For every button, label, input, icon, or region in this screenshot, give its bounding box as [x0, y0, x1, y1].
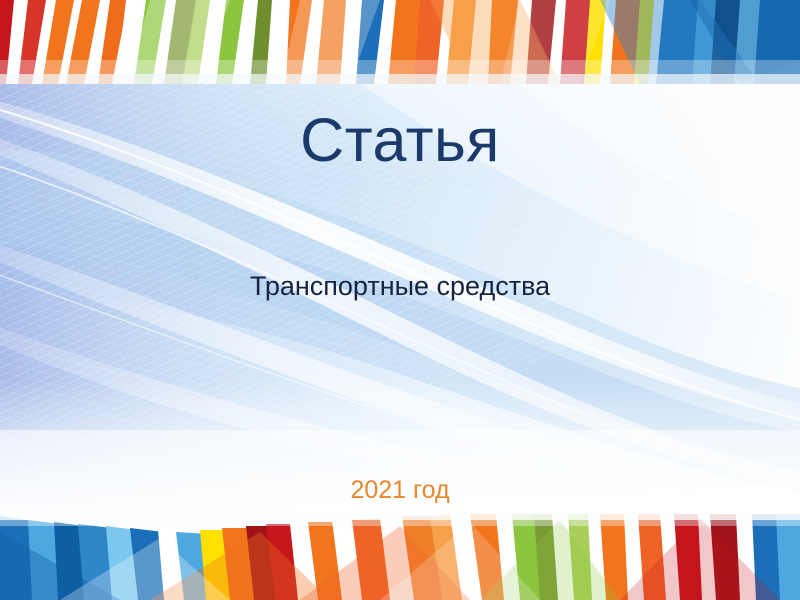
presentation-slide: Статья Транспортные средства 2021 год: [0, 0, 800, 600]
bottom-band-graphic: [0, 512, 800, 600]
slide-title: Статья: [0, 108, 800, 172]
top-decorative-band: [0, 0, 800, 84]
top-band-graphic: [0, 0, 800, 84]
slide-title-text: Статья: [300, 108, 500, 172]
slide-subtitle-text: Транспортные средства: [250, 271, 550, 302]
slide-year-text: 2021 год: [350, 477, 449, 505]
slide-subtitle: Транспортные средства: [0, 271, 800, 302]
slide-year: 2021 год: [0, 477, 800, 505]
bottom-decorative-band: [0, 512, 800, 600]
